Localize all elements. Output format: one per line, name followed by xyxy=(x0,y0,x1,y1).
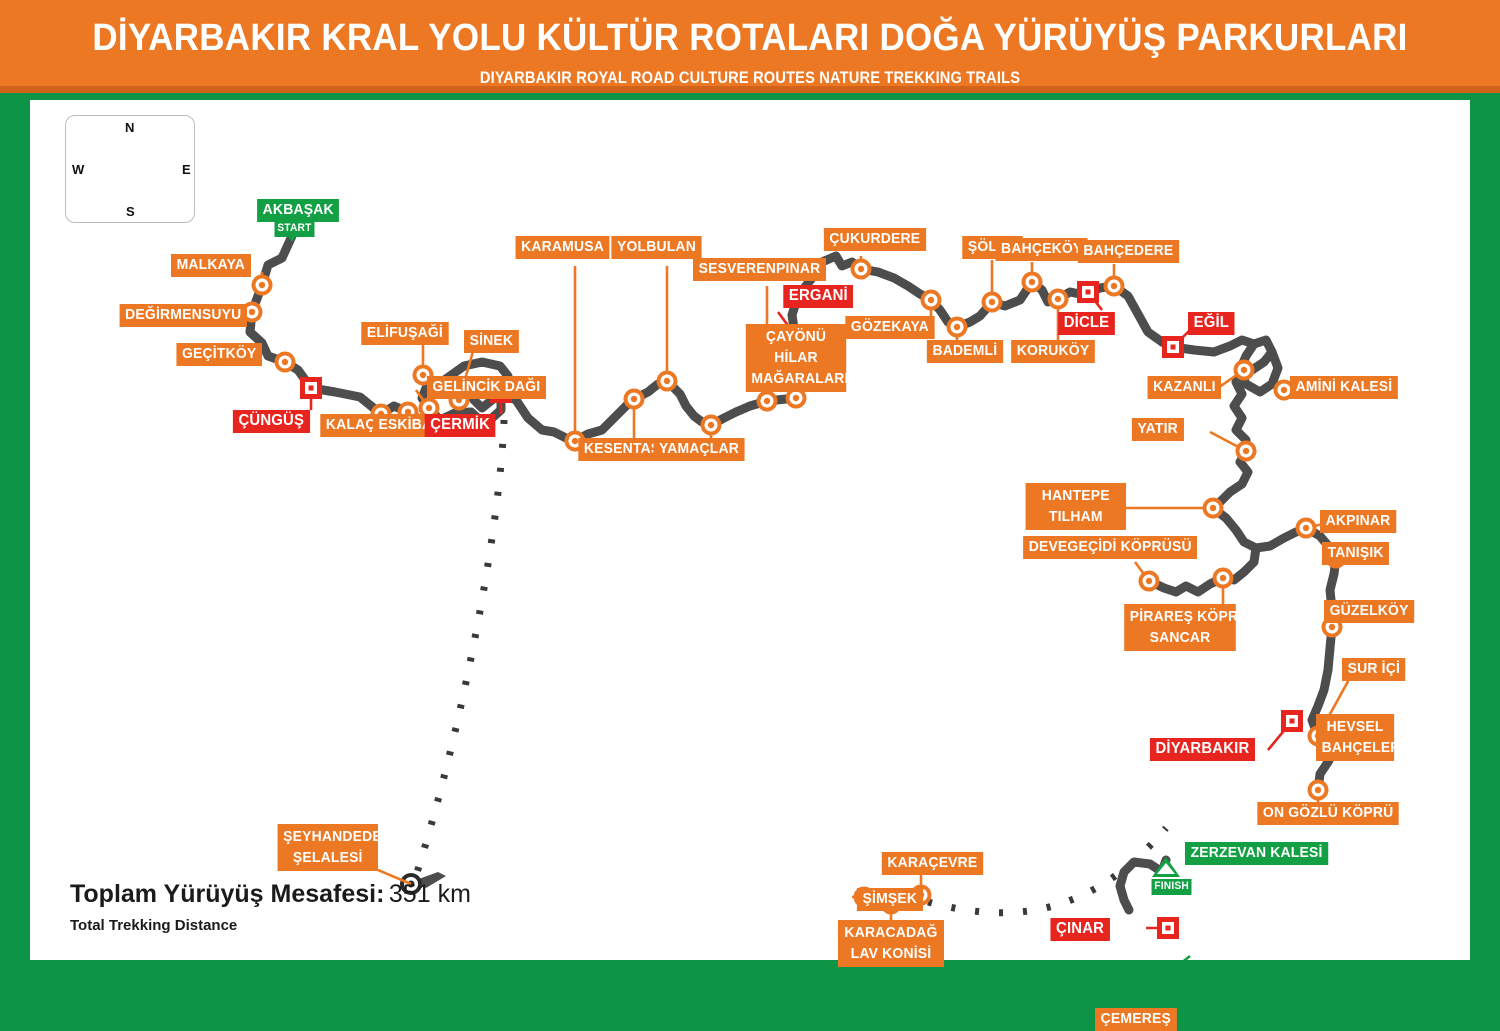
label-devegecidi-koprusu[interactable]: DEVEGEÇİDİ KÖPRÜSÜ xyxy=(1023,536,1197,559)
label-bademli[interactable]: BADEMLİ xyxy=(927,340,1003,363)
label-cemeres[interactable]: ÇEMEREŞ xyxy=(1095,1008,1176,1031)
compass-south-label: S xyxy=(126,204,135,219)
label-hevsel-bahceleri[interactable]: HEVSEL BAHÇELERİ xyxy=(1316,714,1394,761)
label-zerzevan-kalesi[interactable]: ZERZEVAN KALESİ xyxy=(1185,842,1328,865)
label-pirares-koprusu-sancar[interactable]: PİRAREŞ KÖPRÜSÜ SANCAR xyxy=(1124,604,1236,651)
label-diyarbakir[interactable]: DİYARBAKIR xyxy=(1150,738,1255,761)
label-gelincik-dagi[interactable]: GELİNCİK DAĞI xyxy=(427,376,546,399)
page-subtitle: DIYARBAKIR ROYAL ROAD CULTURE ROUTES NAT… xyxy=(105,68,1395,88)
label-akpinar[interactable]: AKPINAR xyxy=(1320,510,1396,533)
label-cermik[interactable]: ÇERMİK xyxy=(425,414,496,437)
label-cukurdere[interactable]: ÇUKURDERE xyxy=(824,228,926,251)
label-yolbulan[interactable]: YOLBULAN xyxy=(611,236,701,259)
label-finish-badge: FINISH xyxy=(1152,879,1192,895)
label-seyhandede-selalesi[interactable]: ŞEYHANDEDE ŞELALESİ xyxy=(278,824,378,871)
label-yatir[interactable]: YATIR xyxy=(1132,418,1184,441)
label-malkaya[interactable]: MALKAYA xyxy=(171,254,251,277)
header-band: DİYARBAKIR KRAL YOLU KÜLTÜR ROTALARI DOĞ… xyxy=(0,0,1500,93)
label-on-gozlu-kopru[interactable]: ON GÖZLÜ KÖPRÜ xyxy=(1257,802,1399,825)
label-cayonu-hilar-magaralari[interactable]: ÇAYÖNÜ HİLAR MAĞARALARI xyxy=(746,324,846,392)
label-karamusa[interactable]: KARAMUSA xyxy=(516,236,610,259)
label-elifusagi[interactable]: ELİFUŞAĞİ xyxy=(361,322,448,345)
label-sur-ici[interactable]: SUR İÇİ xyxy=(1342,658,1406,681)
map-canvas: N E S W AKBAŞAK START ZERZEVAN KALESİ FI… xyxy=(30,100,1470,960)
page-title: DİYARBAKIR KRAL YOLU KÜLTÜR ROTALARI DOĞ… xyxy=(60,17,1440,60)
total-distance-label: Toplam Yürüyüş Mesafesi: xyxy=(70,880,384,908)
total-distance-value: 351 km xyxy=(389,880,471,908)
leader-lines-green xyxy=(1175,956,1190,960)
main-route-path xyxy=(250,236,1336,790)
label-degirmensuyu[interactable]: DEĞİRMENSUYU xyxy=(120,304,247,327)
label-karacevre[interactable]: KARAÇEVRE xyxy=(882,852,983,875)
total-distance-label-en: Total Trekking Distance xyxy=(70,917,471,934)
label-korukoy[interactable]: KORUKÖY xyxy=(1011,340,1095,363)
label-egil[interactable]: EĞİL xyxy=(1188,312,1235,335)
label-ergani[interactable]: ERGANİ xyxy=(783,285,853,308)
label-guzelkoy[interactable]: GÜZELKÖY xyxy=(1324,600,1414,623)
label-cungus[interactable]: ÇÜNGÜŞ xyxy=(233,410,310,433)
label-bahcedere[interactable]: BAHÇEDERE xyxy=(1078,240,1179,263)
label-start-badge: START xyxy=(275,221,315,237)
poster-root: DİYARBAKIR KRAL YOLU KÜLTÜR ROTALARI DOĞ… xyxy=(0,0,1500,1000)
label-amini-kalesi[interactable]: AMİNİ KALESİ xyxy=(1290,376,1398,399)
label-gecitkoy[interactable]: GEÇİTKÖY xyxy=(176,343,262,366)
total-distance-block: Toplam Yürüyüş Mesafesi: 351 km Total Tr… xyxy=(70,880,471,934)
label-yamaclar[interactable]: YAMAÇLAR xyxy=(653,438,744,461)
header-underline xyxy=(0,86,1500,93)
label-kazanli[interactable]: KAZANLI xyxy=(1148,376,1222,399)
route-layer xyxy=(30,100,1470,960)
label-sesverenpinar[interactable]: SESVERENPINAR xyxy=(693,258,826,281)
label-hantepe-tilham[interactable]: HANTEPE TILHAM xyxy=(1026,483,1126,530)
label-karacadag-lav-konisi[interactable]: KARACADAĞ LAV KONİSİ xyxy=(838,920,944,967)
compass-east-label: E xyxy=(182,162,191,177)
label-akbasak[interactable]: AKBAŞAK xyxy=(257,199,339,222)
label-sinek[interactable]: SİNEK xyxy=(464,330,519,353)
dashed-route-cermik-seyhandede xyxy=(414,420,504,882)
label-dicle[interactable]: DİCLE xyxy=(1058,312,1115,335)
compass-west-label: W xyxy=(72,162,84,177)
label-simsek[interactable]: ŞİMŞEK xyxy=(857,888,923,911)
label-gozekaya[interactable]: GÖZEKAYA xyxy=(845,316,934,339)
compass-north-label: N xyxy=(125,120,134,135)
label-tanisik[interactable]: TANIŞIK xyxy=(1322,542,1389,565)
label-cinar[interactable]: ÇINAR xyxy=(1050,918,1109,941)
label-bahcekoy[interactable]: BAHÇEKÖY xyxy=(995,238,1087,261)
